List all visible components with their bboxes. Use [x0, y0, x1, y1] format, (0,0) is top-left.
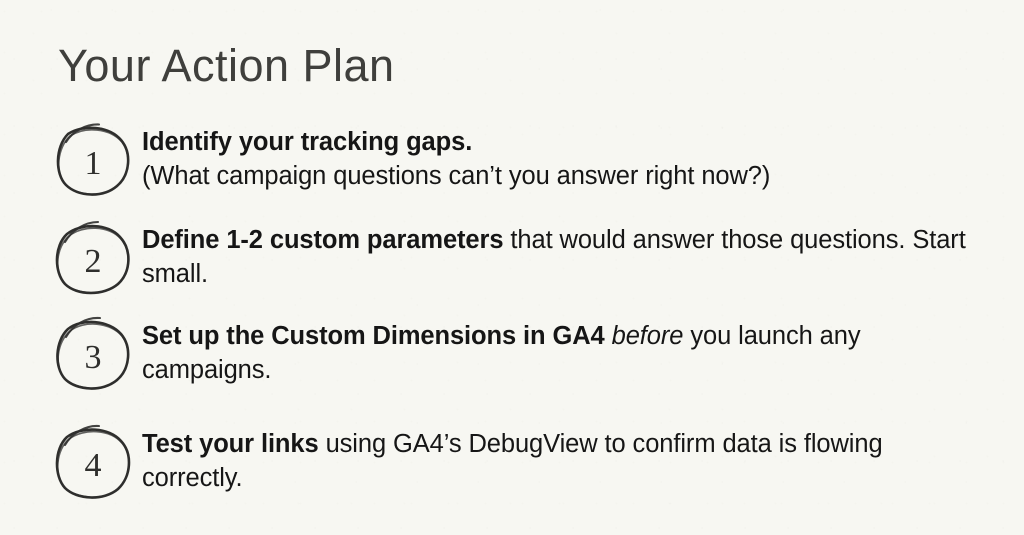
text-segment: Define 1-2 custom parameters — [142, 226, 503, 254]
text-segment: (What campaign questions can’t you answe… — [142, 162, 770, 190]
list-item: 1 Identify your tracking gaps. (What cam… — [52, 118, 972, 200]
list-item-text: Set up the Custom Dimensions in GA4 befo… — [142, 312, 972, 388]
step-number-badge-2: 2 — [52, 218, 134, 298]
step-number-badge-3: 3 — [52, 314, 134, 394]
list-item-text: Identify your tracking gaps. (What campa… — [142, 118, 972, 194]
step-number-4: 4 — [85, 447, 102, 484]
step-number-3: 3 — [85, 339, 102, 376]
list-item: 4 Test your links using GA4’s DebugView … — [52, 420, 972, 502]
text-segment: Set up the Custom Dimensions in GA4 — [142, 322, 605, 350]
hand-drawn-circle-icon: 4 — [52, 422, 134, 502]
list-item-subtext: (What campaign questions can’t you answe… — [142, 160, 972, 194]
step-number-2: 2 — [85, 243, 102, 280]
list-item: 2 Define 1-2 custom parameters that woul… — [52, 216, 972, 298]
action-plan-slide: Your Action Plan 1 Identify your trackin… — [0, 0, 1024, 535]
hand-drawn-circle-icon: 2 — [52, 218, 134, 298]
text-segment: Test your links — [142, 430, 319, 458]
text-segment: Identify your tracking gaps. — [142, 128, 472, 156]
action-plan-list: 1 Identify your tracking gaps. (What cam… — [52, 118, 972, 502]
text-segment — [605, 322, 612, 350]
list-item-headline: Define 1-2 custom parameters that would … — [142, 224, 972, 292]
list-item: 3 Set up the Custom Dimensions in GA4 be… — [52, 312, 972, 394]
list-item-text: Define 1-2 custom parameters that would … — [142, 216, 972, 292]
text-segment-emphasis: before — [612, 322, 684, 350]
page-title: Your Action Plan — [58, 42, 395, 89]
step-number-badge-1: 1 — [52, 120, 134, 200]
hand-drawn-circle-icon: 1 — [52, 120, 134, 200]
list-item-text: Test your links using GA4’s DebugView to… — [142, 420, 972, 496]
list-item-headline: Identify your tracking gaps. — [142, 126, 972, 160]
list-item-headline: Test your links using GA4’s DebugView to… — [142, 428, 972, 496]
step-number-badge-4: 4 — [52, 422, 134, 502]
list-item-headline: Set up the Custom Dimensions in GA4 befo… — [142, 320, 972, 388]
hand-drawn-circle-icon: 3 — [52, 314, 134, 394]
step-number-1: 1 — [85, 145, 102, 182]
